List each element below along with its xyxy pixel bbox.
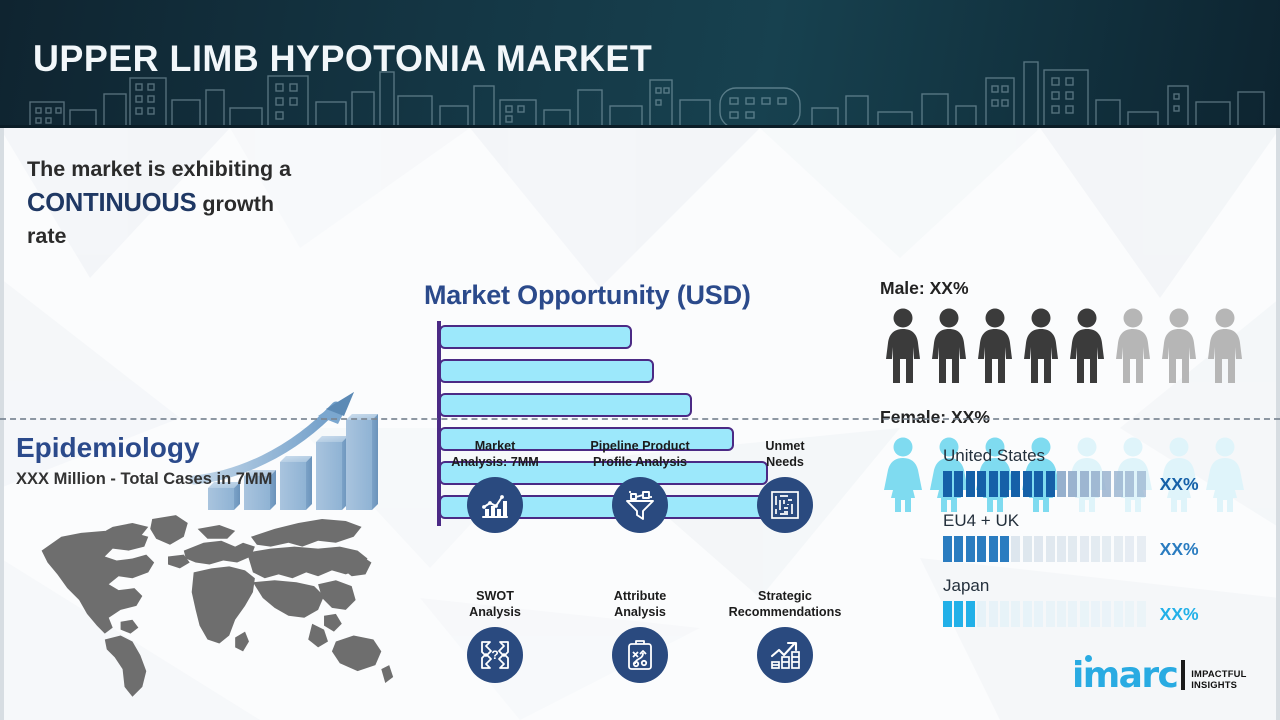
male-label: Male: XX% [880, 278, 1270, 299]
gauge-segment [989, 536, 998, 562]
chart-bar [439, 325, 632, 349]
gauge-segment [1114, 601, 1123, 627]
gauge-segment [1057, 601, 1066, 627]
male-figure-row [880, 307, 1270, 383]
gauge-segment [1034, 536, 1043, 562]
gauge-segment [1023, 471, 1032, 497]
analysis-icon-grid: Market Analysis: 7MM [420, 438, 860, 718]
world-map-icon [10, 492, 405, 707]
icon-caption-line1: SWOT [420, 588, 570, 604]
region-gauge [943, 471, 1146, 497]
region-name: Japan [943, 576, 1243, 596]
gauge-segment [1114, 536, 1123, 562]
logo-divider [1181, 660, 1185, 690]
page-header: UPPER LIMB HYPOTONIA MARKET [0, 0, 1280, 128]
gauge-segment [1000, 536, 1009, 562]
clipboard-strategy-icon[interactable] [612, 627, 668, 683]
male-figure-icon [972, 307, 1018, 383]
icon-cell-attribute-analysis[interactable]: Attribute Analysis [565, 588, 715, 683]
gauge-segment [943, 471, 952, 497]
region-gauge [943, 536, 1146, 562]
logo-wordmark: imarc [1072, 661, 1177, 692]
region-gauges: United StatesXX%EU4 + UKXX%JapanXX% [943, 446, 1243, 641]
gauge-segment [989, 471, 998, 497]
lead-statement: The market is exhibiting a CONTINUOUS gr… [27, 154, 367, 252]
male-figure-icon [1202, 307, 1248, 383]
gauge-segment [1080, 536, 1089, 562]
gauge-segment [966, 536, 975, 562]
icon-caption-line1: Unmet [710, 438, 860, 454]
maze-icon[interactable] [757, 477, 813, 533]
gauge-segment [1034, 601, 1043, 627]
icon-caption-line2: Recommendations [710, 604, 860, 620]
male-figure-icon [1064, 307, 1110, 383]
icon-caption-line1: Strategic [710, 588, 860, 604]
region-percent: XX% [1160, 474, 1199, 495]
gauge-segment [943, 536, 952, 562]
gauge-segment [1137, 471, 1146, 497]
lead-part-2: growth [202, 192, 274, 216]
gauge-segment [1023, 536, 1032, 562]
gauge-segment [1137, 601, 1146, 627]
imarc-logo: imarc IMPACTFUL INSIGHTS [1072, 660, 1247, 692]
gauge-segment [1068, 536, 1077, 562]
gauge-segment [966, 471, 975, 497]
lead-highlight: CONTINUOUS [27, 189, 196, 217]
icon-cell-swot-analysis[interactable]: SWOT Analysis ? [420, 588, 570, 683]
icon-cell-unmet-needs[interactable]: Unmet Needs [710, 438, 860, 533]
lead-part-1: The market is exhibiting a [27, 157, 291, 181]
gauge-segment [1034, 471, 1043, 497]
gauge-segment [1000, 601, 1009, 627]
gauge-segment [1102, 471, 1111, 497]
gauge-segment [1114, 471, 1123, 497]
gauge-segment [1091, 601, 1100, 627]
logo-tagline-line2: INSIGHTS [1191, 679, 1246, 690]
gauge-segment [1000, 471, 1009, 497]
logo-tagline: IMPACTFUL INSIGHTS [1191, 668, 1246, 692]
gauge-segment [1091, 471, 1100, 497]
region-name: United States [943, 446, 1243, 466]
gauge-segment [1080, 601, 1089, 627]
gauge-segment [1057, 536, 1066, 562]
epidemiology-subtitle: XXX Million - Total Cases in 7MM [16, 470, 272, 489]
gauge-segment [1046, 601, 1055, 627]
gauge-segment [1068, 601, 1077, 627]
gauge-segment [977, 601, 986, 627]
gauge-segment [1125, 601, 1134, 627]
region-row: United StatesXX% [943, 446, 1243, 497]
gauge-segment [1011, 601, 1020, 627]
gauge-segment [1125, 536, 1134, 562]
infographic-page: UPPER LIMB HYPOTONIA MARKET The market i… [0, 0, 1280, 720]
region-percent: XX% [1160, 604, 1199, 625]
logo-tagline-line1: IMPACTFUL [1191, 668, 1246, 679]
region-gauge-row: XX% [943, 471, 1243, 497]
gauge-segment [977, 471, 986, 497]
gauge-segment [954, 536, 963, 562]
icon-caption-line2: Needs [710, 454, 860, 470]
gauge-segment [977, 536, 986, 562]
region-percent: XX% [1160, 539, 1199, 560]
four-arrows-question-icon[interactable]: ? [467, 627, 523, 683]
gauge-segment [1125, 471, 1134, 497]
region-row: JapanXX% [943, 576, 1243, 627]
chart-bar [439, 359, 654, 383]
gauge-segment [1046, 536, 1055, 562]
gauge-segment [954, 601, 963, 627]
male-figure-icon [926, 307, 972, 383]
funnel-icon[interactable] [612, 477, 668, 533]
gauge-segment [1068, 471, 1077, 497]
page-title: UPPER LIMB HYPOTONIA MARKET [33, 38, 652, 80]
icon-cell-pipeline-product[interactable]: Pipeline Product Profile Analysis [565, 438, 715, 533]
svg-text:?: ? [491, 648, 498, 662]
gauge-segment [1023, 601, 1032, 627]
top-section: The market is exhibiting a CONTINUOUS gr… [0, 128, 1280, 418]
gauge-segment [1011, 471, 1020, 497]
gauge-segment [1137, 536, 1146, 562]
gauge-segment [1046, 471, 1055, 497]
gauge-segment [943, 601, 952, 627]
bar-chart-line-icon[interactable] [467, 477, 523, 533]
icon-caption-line1: Pipeline Product [565, 438, 715, 454]
male-figure-icon [1018, 307, 1064, 383]
gauge-segment [1080, 471, 1089, 497]
region-name: EU4 + UK [943, 511, 1243, 531]
icon-caption-line2: Analysis [565, 604, 715, 620]
region-gauge [943, 601, 1146, 627]
gauge-segment [1011, 536, 1020, 562]
logo-dot-icon [1085, 655, 1092, 662]
lead-part-3: rate [27, 224, 66, 248]
icon-caption-line1: Attribute [565, 588, 715, 604]
gauge-segment [1102, 536, 1111, 562]
gauge-segment [1057, 471, 1066, 497]
chart-bar [439, 393, 692, 417]
icon-caption-line2: Profile Analysis [565, 454, 715, 470]
male-figure-icon [1156, 307, 1202, 383]
gauge-segment [1102, 601, 1111, 627]
epidemiology-title: Epidemiology [16, 432, 200, 464]
gauge-segment [1091, 536, 1100, 562]
icon-cell-strategic-recommendations[interactable]: Strategic Recommendations [710, 588, 860, 683]
gauge-segment [954, 471, 963, 497]
icon-caption-line2: Analysis [420, 604, 570, 620]
male-figure-icon [1110, 307, 1156, 383]
growth-arrow-bars-icon[interactable] [757, 627, 813, 683]
gauge-segment [989, 601, 998, 627]
icon-caption-line1: Market [420, 438, 570, 454]
region-gauge-row: XX% [943, 536, 1243, 562]
market-opportunity-title: Market Opportunity (USD) [424, 280, 751, 311]
region-row: EU4 + UKXX% [943, 511, 1243, 562]
male-figure-icon [880, 307, 926, 383]
region-gauge-row: XX% [943, 601, 1243, 627]
icon-caption-line2: Analysis: 7MM [420, 454, 570, 470]
gauge-segment [966, 601, 975, 627]
icon-cell-market-analysis[interactable]: Market Analysis: 7MM [420, 438, 570, 533]
